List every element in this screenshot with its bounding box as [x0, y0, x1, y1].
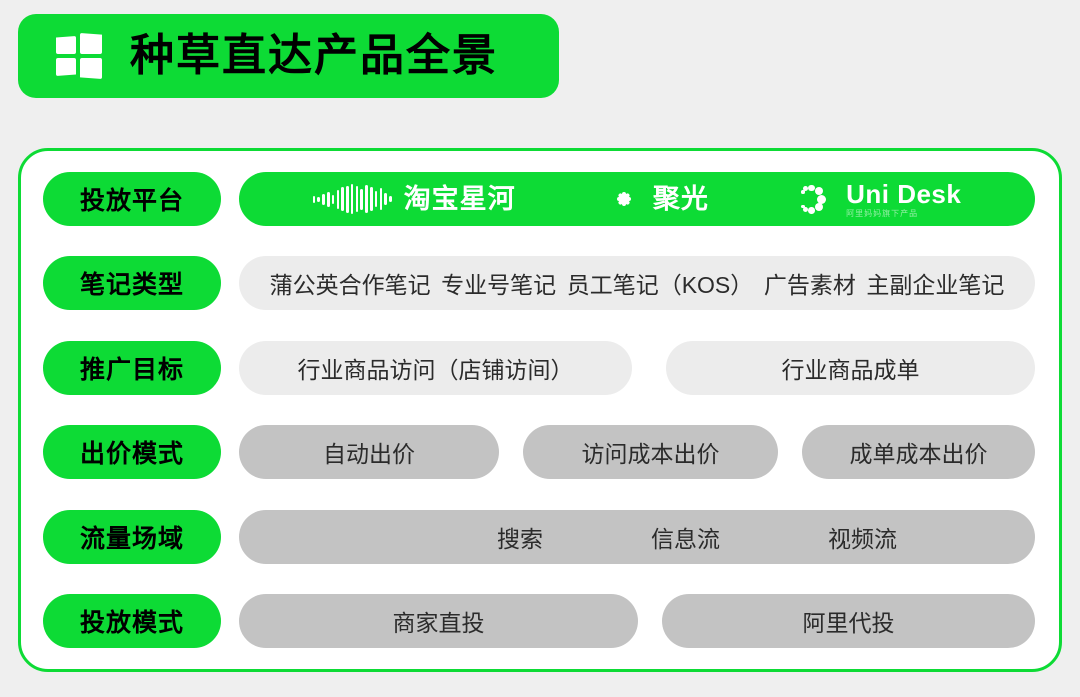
window-grid-icon — [56, 33, 104, 79]
platform-subtitle: 阿里妈妈旗下产品 — [846, 210, 961, 218]
note-type-item[interactable]: 主副企业笔记 — [866, 266, 1004, 300]
platform-item-unidesk[interactable]: Uni Desk 阿里妈妈旗下产品 — [800, 181, 961, 218]
table-row: 流量场域 搜索 信息流 视频流 — [43, 509, 1035, 565]
traffic-scene-item[interactable]: 视频流 — [828, 520, 897, 554]
platform-name: 淘宝星河 — [404, 186, 516, 213]
table-row: 出价模式 自动出价 访问成本出价 成单成本出价 — [43, 424, 1035, 480]
delivery-mode-option[interactable]: 商家直投 — [239, 594, 638, 648]
table-row: 笔记类型 蒲公英合作笔记 专业号笔记 员工笔记（KOS） 广告素材 主副企业笔记 — [43, 255, 1035, 311]
row-label-promotion-goal: 推广目标 — [43, 341, 221, 395]
bid-mode-option[interactable]: 成单成本出价 — [802, 425, 1035, 479]
note-type-pill: 蒲公英合作笔记 专业号笔记 员工笔记（KOS） 广告素材 主副企业笔记 — [239, 256, 1035, 310]
row-label-platform: 投放平台 — [43, 172, 221, 226]
note-type-item[interactable]: 蒲公英合作笔记 — [270, 266, 431, 300]
bid-mode-option[interactable]: 自动出价 — [239, 425, 499, 479]
row-content-delivery-mode: 商家直投 阿里代投 — [239, 594, 1035, 648]
starburst-icon — [607, 182, 641, 216]
note-type-item[interactable]: 员工笔记（KOS） — [567, 266, 754, 300]
platform-item-juguang[interactable]: 聚光 — [607, 182, 709, 216]
traffic-scene-item[interactable]: 搜索 — [497, 520, 543, 554]
table-row: 推广目标 行业商品访问（店铺访间） 行业商品成单 — [43, 340, 1035, 396]
row-content-platform: 淘宝星河 聚光 — [239, 172, 1035, 226]
note-type-item[interactable]: 广告素材 — [764, 266, 856, 300]
platform-name: 聚光 — [653, 186, 709, 213]
waveform-icon — [313, 184, 392, 214]
platform-pill: 淘宝星河 聚光 — [239, 172, 1035, 226]
row-label-bid-mode: 出价模式 — [43, 425, 221, 479]
page-title: 种草直达产品全景 — [130, 34, 498, 78]
row-content-bid-mode: 自动出价 访问成本出价 成单成本出价 — [239, 425, 1035, 479]
bid-mode-option[interactable]: 访问成本出价 — [523, 425, 778, 479]
row-label-delivery-mode: 投放模式 — [43, 594, 221, 648]
table-row: 投放模式 商家直投 阿里代投 — [43, 593, 1035, 649]
promotion-goal-option[interactable]: 行业商品成单 — [666, 341, 1035, 395]
row-label-note-type: 笔记类型 — [43, 256, 221, 310]
note-type-item[interactable]: 专业号笔记 — [441, 266, 556, 300]
product-overview-card: 投放平台 淘宝星河 — [18, 148, 1062, 672]
traffic-scene-pill: 搜索 信息流 视频流 — [239, 510, 1035, 564]
promotion-goal-option[interactable]: 行业商品访问（店铺访间） — [239, 341, 632, 395]
delivery-mode-option[interactable]: 阿里代投 — [662, 594, 1035, 648]
platform-item-taobao-xinghe[interactable]: 淘宝星河 — [313, 184, 516, 214]
header-badge: 种草直达产品全景 — [18, 14, 559, 98]
row-content-traffic-scene: 搜索 信息流 视频流 — [239, 510, 1035, 564]
row-content-note-type: 蒲公英合作笔记 专业号笔记 员工笔记（KOS） 广告素材 主副企业笔记 — [239, 256, 1035, 310]
dot-circle-icon — [800, 182, 834, 216]
row-content-promotion-goal: 行业商品访问（店铺访间） 行业商品成单 — [239, 341, 1035, 395]
table-row: 投放平台 淘宝星河 — [43, 171, 1035, 227]
traffic-scene-item[interactable]: 信息流 — [651, 520, 720, 554]
platform-name: Uni Desk — [846, 181, 961, 207]
row-label-traffic-scene: 流量场域 — [43, 510, 221, 564]
